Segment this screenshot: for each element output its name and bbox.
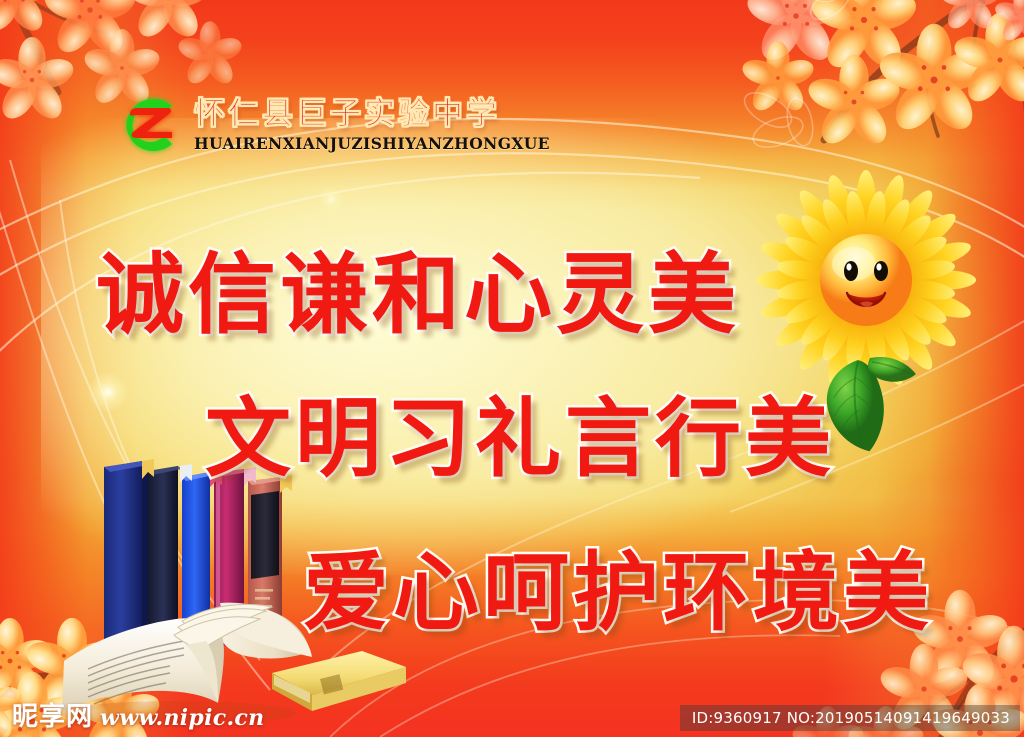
stacked-books-and-open-book-icon: [58, 455, 408, 725]
school-name-block: 怀仁县巨子实验中学 HUAIRENXIANJUZISHIYANZHONGXUE: [194, 99, 550, 152]
school-name-cn: 怀仁县巨子实验中学: [194, 99, 550, 130]
watermark-cn-text: 昵享网: [12, 696, 93, 733]
nipic-watermark: 昵享网 www.nipic.cn: [12, 696, 264, 733]
school-name-pinyin: HUAIRENXIANJUZISHIYANZHONGXUE: [194, 136, 550, 152]
sparkle-dot: [318, 186, 344, 212]
watermark-url-text: www.nipic.cn: [100, 705, 264, 731]
sparkle-dot: [88, 372, 128, 412]
image-id-text: ID:9360917 NO:20190514091419649033: [692, 709, 1010, 727]
image-id-strip: ID:9360917 NO:20190514091419649033: [680, 705, 1020, 731]
school-header: 怀仁县巨子实验中学 HUAIRENXIANJUZISHIYANZHONGXUE: [106, 92, 550, 158]
smiling-sunflower-icon: [778, 192, 963, 467]
school-emblem-icon: [106, 92, 184, 158]
poster-canvas: 怀仁县巨子实验中学 HUAIRENXIANJUZISHIYANZHONGXUE: [0, 0, 1024, 737]
